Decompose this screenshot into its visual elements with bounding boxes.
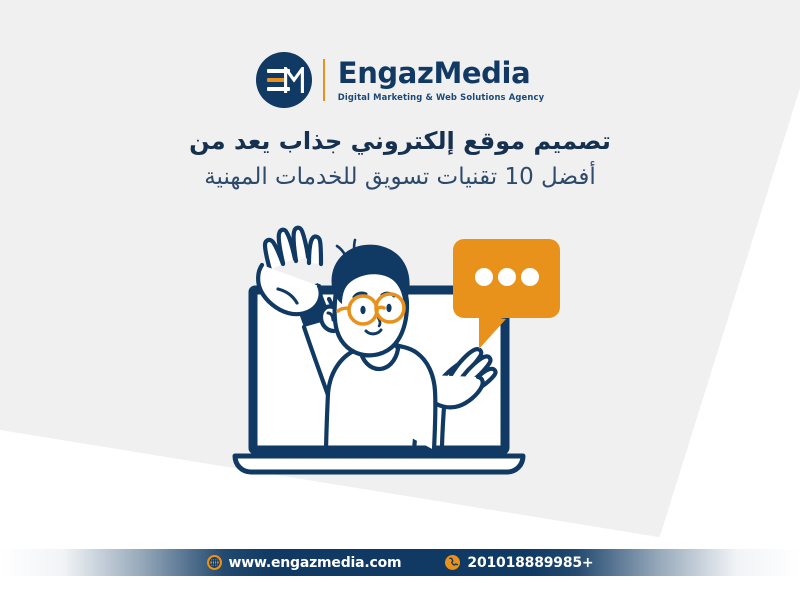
footer-contact-bar: www.engazmedia.com 201018889985+ [0,549,800,576]
person-waving-from-laptop-illustration [232,225,568,485]
brand-name: EngazMedia [338,59,530,88]
laptop-base [235,456,523,472]
logo-divider [323,59,325,101]
headline-block: تصميم موقع إلكتروني جذاب يعد من أفضل 10 … [0,124,800,194]
engazmedia-em-monogram-icon [256,52,312,108]
brand-logo: EngazMedia Digital Marketing & Web Solut… [0,52,800,108]
phone-icon [445,555,460,570]
monogram-letter-m-icon [284,67,304,94]
logo-wordmark: EngazMedia Digital Marketing & Web Solut… [338,59,544,101]
headline-line-1: تصميم موقع إلكتروني جذاب يعد من [0,124,800,159]
website-label: www.engazmedia.com [229,555,402,571]
chat-dot [475,268,493,286]
phone-label: 201018889985+ [467,555,593,571]
footer-website[interactable]: www.engazmedia.com [207,555,402,571]
headline-line-2: أفضل 10 تقنيات تسويق للخدمات المهنية [0,161,800,194]
chat-dot [498,268,516,286]
footer-phone[interactable]: 201018889985+ [445,555,593,571]
banner-canvas: EngazMedia Digital Marketing & Web Solut… [0,0,800,600]
globe-icon [207,555,222,570]
chat-dot [521,268,539,286]
brand-tagline: Digital Marketing & Web Solutions Agency [338,93,544,101]
